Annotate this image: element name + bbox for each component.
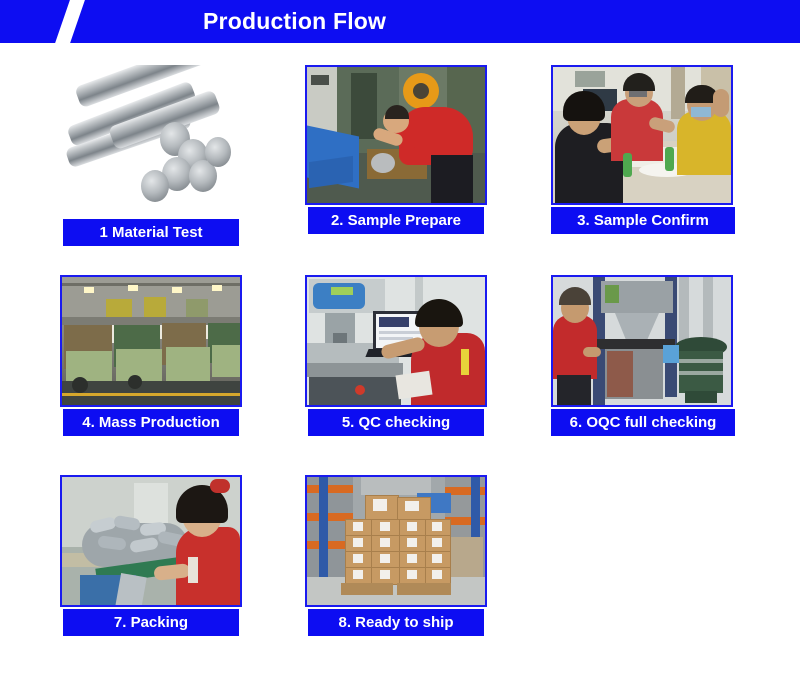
inspector-at-vision-measuring-machine-illustration — [307, 277, 485, 405]
step-label-6: 6. OQC full checking — [551, 409, 735, 436]
step-card-4[interactable]: 4. Mass Production — [60, 275, 242, 436]
step-card-1[interactable]: 1 Material Test — [60, 65, 242, 246]
step-card-5[interactable]: 5. QC checking — [305, 275, 487, 436]
step-image-4 — [60, 275, 242, 407]
step-card-2[interactable]: 2. Sample Prepare — [305, 65, 487, 234]
step-card-3[interactable]: 3. Sample Confirm — [551, 65, 733, 234]
worker-at-weighing-counting-machine-illustration — [553, 277, 731, 405]
worker-sealing-packages-illustration — [62, 477, 240, 605]
step-card-7[interactable]: 7. Packing — [60, 475, 242, 636]
step-image-7 — [60, 475, 242, 607]
production-flow-grid: 1 Material Test — [0, 43, 800, 690]
steel-round-bars-bundle-illustration — [60, 65, 242, 217]
step-label-7: 7. Packing — [63, 609, 239, 636]
step-label-2: 2. Sample Prepare — [308, 207, 484, 234]
step-label-5: 5. QC checking — [308, 409, 484, 436]
step-label-4: 4. Mass Production — [63, 409, 239, 436]
page-header: Production Flow — [0, 0, 800, 43]
three-people-reviewing-sample-at-table-illustration — [553, 67, 731, 203]
step-card-8[interactable]: 8. Ready to ship — [305, 475, 487, 636]
step-image-6 — [551, 275, 733, 407]
step-image-3 — [551, 65, 733, 205]
factory-floor-row-of-machines-illustration — [62, 277, 240, 405]
step-image-2 — [305, 65, 487, 205]
step-label-3: 3. Sample Confirm — [551, 207, 735, 234]
worker-at-punch-press-machine-illustration — [307, 67, 485, 203]
step-image-1 — [60, 65, 242, 217]
step-image-8 — [305, 475, 487, 607]
step-card-6[interactable]: 6. OQC full checking — [551, 275, 733, 436]
page-title: Production Flow — [203, 7, 386, 35]
diagonal-slash-icon — [52, 0, 87, 43]
step-label-8: 8. Ready to ship — [308, 609, 484, 636]
step-label-1: 1 Material Test — [63, 219, 239, 246]
stacked-cartons-in-warehouse-illustration — [307, 477, 485, 605]
step-image-5 — [305, 275, 487, 407]
